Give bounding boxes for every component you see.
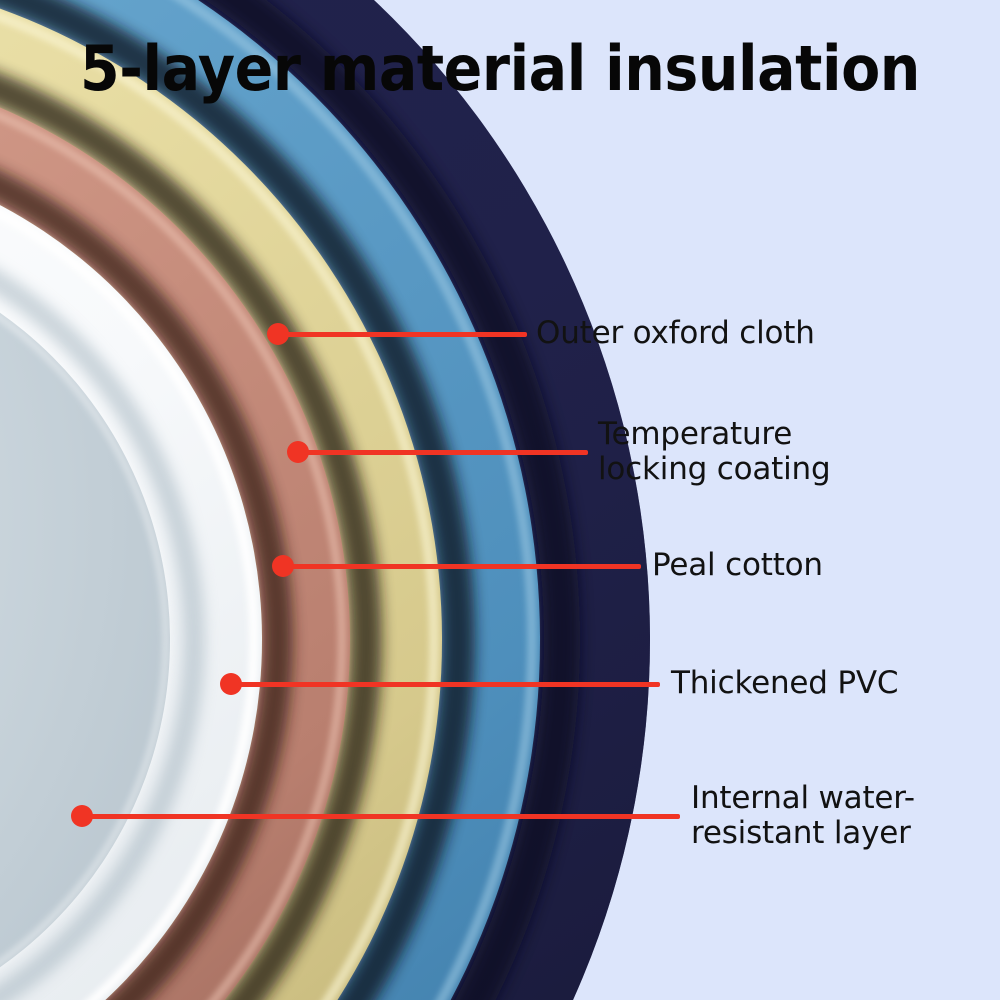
callout-line-peal-cotton xyxy=(283,564,641,569)
callout-label-outer-oxford-cloth: Outer oxford cloth xyxy=(536,316,815,351)
callout-line-internal-water-resistant-layer xyxy=(82,814,680,819)
infographic-canvas: 5-layer material insulation Outer oxford… xyxy=(0,0,1000,1000)
page-title: 5-layer material insulation xyxy=(40,36,960,101)
callout-label-internal-water-resistant-layer: Internal water- resistant layer xyxy=(691,781,915,850)
callout-label-thickened-pvc: Thickened PVC xyxy=(671,666,898,701)
callout-label-peal-cotton: Peal cotton xyxy=(652,548,823,583)
callout-line-thickened-pvc xyxy=(231,682,660,687)
callout-line-outer-oxford-cloth xyxy=(278,332,527,337)
callout-line-temperature-locking-coating xyxy=(298,450,588,455)
callout-label-temperature-locking-coating: Temperature locking coating xyxy=(598,417,830,486)
